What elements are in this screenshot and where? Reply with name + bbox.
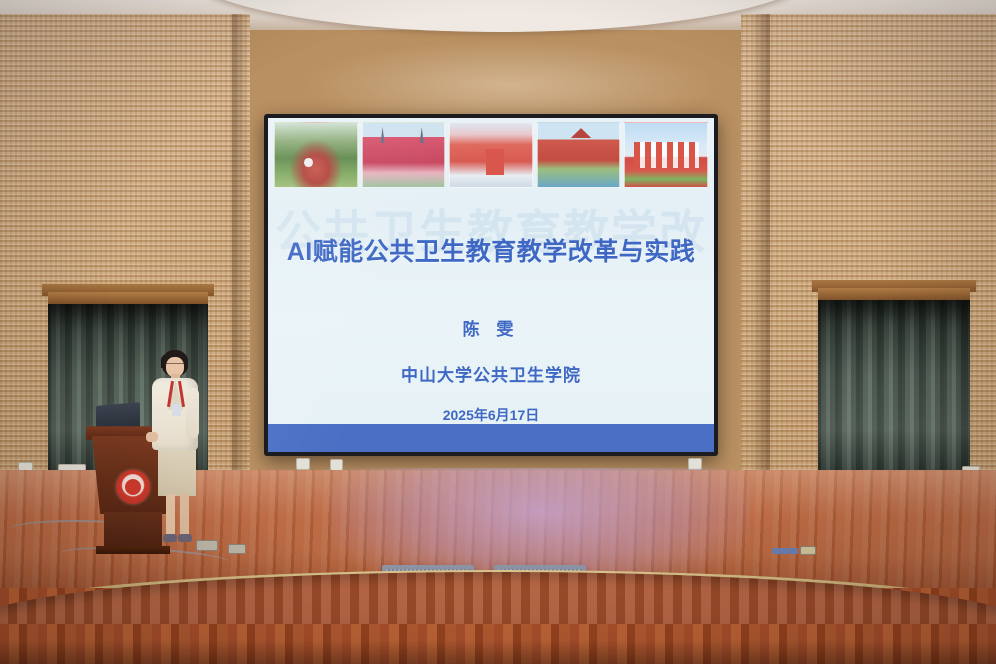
slide-content: 公共卫生教育教学改 AI赋能公共卫生教育教学改革与实践 陈 雯 中山大学公共卫生…	[268, 118, 714, 452]
slide-affiliation: 中山大学公共卫生学院	[268, 361, 714, 386]
campus-photo-1	[274, 122, 358, 188]
floor-plate-2	[228, 544, 246, 554]
name-badge	[172, 404, 181, 416]
presenter-leg-right	[180, 494, 189, 538]
floor-marker-tape	[772, 548, 798, 554]
presenter-arm-right	[186, 388, 199, 438]
glasses-icon	[166, 363, 184, 368]
curtain-alcove-right	[818, 288, 970, 484]
presentation-screen: 公共卫生教育教学改 AI赋能公共卫生教育教学改革与实践 陈 雯 中山大学公共卫生…	[264, 114, 718, 456]
wall-corner-shadow-left	[232, 14, 248, 484]
podium-base	[96, 546, 170, 554]
alcove-header-left	[48, 292, 208, 304]
stage-apron-shadow	[0, 640, 996, 664]
presenter-leg-left	[166, 494, 175, 538]
campus-photo-4	[537, 122, 621, 188]
presenter-hand	[146, 432, 158, 442]
podium-column	[104, 512, 162, 550]
podium-emblem-icon	[116, 470, 150, 504]
slide-title: AI赋能公共卫生教育教学改革与实践	[268, 232, 714, 268]
auditorium-scene: 公共卫生教育教学改 AI赋能公共卫生教育教学改革与实践 陈 雯 中山大学公共卫生…	[0, 0, 996, 664]
slide-banner-photos	[274, 122, 708, 188]
slide-footer-band	[268, 424, 714, 452]
presenter-skirt	[158, 444, 196, 496]
alcove-header-right	[818, 288, 970, 300]
curtain-sheen-right	[818, 288, 970, 484]
presenter-shoe-right	[178, 534, 192, 542]
campus-photo-5	[624, 122, 708, 188]
campus-photo-2	[362, 122, 446, 188]
floor-plate-1	[196, 540, 218, 551]
wall-corner-shadow-right	[752, 14, 770, 484]
presenter-shoe-left	[163, 534, 177, 542]
wall-outlet-1	[296, 458, 310, 470]
campus-photo-3	[449, 122, 533, 188]
slide-speaker-name: 陈 雯	[268, 315, 714, 340]
floor-plate-3	[800, 546, 816, 555]
slide-date: 2025年6月17日	[268, 405, 714, 425]
